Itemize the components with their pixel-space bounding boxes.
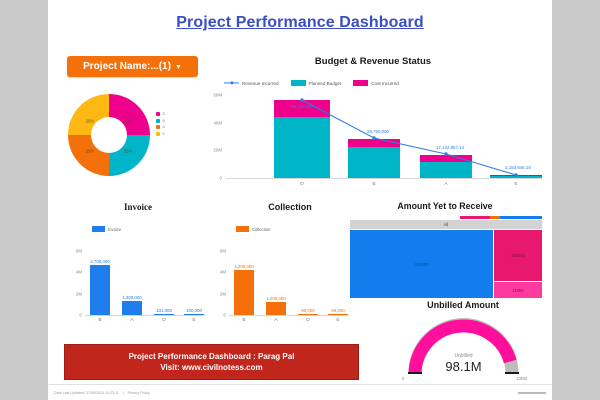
- page-title: Project Performance Dashboard: [48, 14, 552, 32]
- value-label-invoice-b: 4,700,000: [90, 259, 110, 264]
- line-point-a: [444, 152, 447, 155]
- donut-slice-label-b: 25%: [124, 149, 132, 154]
- treemap-cell-11000[interactable]: 11000: [494, 282, 542, 298]
- gauge-value: 98.1M: [406, 359, 521, 374]
- legend-swatch-d: [156, 112, 160, 116]
- x-tick-e: E: [514, 182, 517, 187]
- y-tick-6m: 6M: [68, 249, 82, 254]
- x-tick-b: B: [98, 318, 101, 323]
- line-point-e: [514, 173, 517, 176]
- value-label-invoice-d: 101,000: [156, 308, 172, 313]
- treemap-header: All: [350, 220, 542, 229]
- budget-revenue-plot: 0 20M 40M 60M: [198, 50, 548, 195]
- value-label-revenue-e: 2,153,846.15: [505, 165, 531, 170]
- x-tick-d: D: [306, 318, 309, 323]
- x-tick-a: A: [274, 318, 277, 323]
- treemap-cell-160000[interactable]: 160000: [494, 230, 542, 281]
- treemap-cell-300000[interactable]: 300000: [350, 230, 493, 298]
- line-point-d: [300, 98, 303, 101]
- x-tick-d: D: [162, 318, 165, 323]
- y-tick-4m: 4M: [68, 270, 82, 275]
- project-share-donut-chart[interactable]: 25% 25% 25% 25% D B A: [62, 92, 192, 180]
- footer-bar: Data Last Updated: 27/05/2024 10:33:11 |…: [48, 384, 552, 400]
- footer-separator: |: [123, 391, 124, 395]
- budget-revenue-status-chart[interactable]: Budget & Revenue Status Revenue Incurred…: [198, 50, 548, 195]
- unbilled-amount-title: Unbilled Amount: [378, 300, 548, 310]
- donut-slice-label-a: 25%: [86, 149, 94, 154]
- amount-yet-to-receive-title: Amount Yet to Receive: [340, 201, 550, 211]
- value-label-invoice-a: 1,300,000: [122, 295, 142, 300]
- value-label-revenue-d: 56,350,000: [291, 104, 313, 109]
- legend-swatch-a: [156, 125, 160, 129]
- value-label-collection-b: 4,200,000: [234, 264, 254, 269]
- x-axis-line: [229, 315, 349, 316]
- y-tick-2m: 2M: [212, 291, 226, 296]
- screenshot-root: Project Performance Dashboard Project Na…: [0, 0, 600, 400]
- credits-banner: Project Performance Dashboard : Parag Pa…: [64, 344, 359, 380]
- treemap-body: All 300000 160000 11000: [350, 220, 542, 298]
- credits-line-1: Project Performance Dashboard : Parag Pa…: [129, 352, 295, 361]
- chevron-down-icon: ▼: [175, 64, 182, 71]
- y-tick-6m: 6M: [212, 249, 226, 254]
- bar-collection-d[interactable]: [298, 314, 318, 315]
- value-label-invoice-e: 100,000: [186, 308, 202, 313]
- project-name-slicer[interactable]: Project Name:...(1) ▼: [67, 56, 198, 77]
- y-tick-4m: 4M: [212, 270, 226, 275]
- donut-slice-label-d: 25%: [124, 119, 132, 124]
- x-tick-e: E: [192, 318, 195, 323]
- dashboard-canvas: Project Performance Dashboard Project Na…: [48, 0, 552, 400]
- project-name-slicer-label: Project Name:...(1): [83, 61, 171, 72]
- credits-line-2: Visit: www.civilnotess.com: [160, 363, 262, 372]
- x-tick-d: D: [300, 182, 303, 187]
- legend-label-e: E: [163, 132, 165, 136]
- footer-updated-text: Data Last Updated: 27/05/2024 10:33:11: [54, 391, 119, 395]
- x-tick-b: B: [372, 182, 375, 187]
- y-tick-2m: 2M: [68, 291, 82, 296]
- legend-item[interactable]: D: [156, 112, 165, 116]
- x-axis-line: [85, 315, 205, 316]
- legend-label-b: B: [163, 119, 165, 123]
- bar-collection-e[interactable]: [328, 314, 348, 315]
- y-tick-0: 0: [68, 313, 82, 318]
- bar-invoice-b[interactable]: [90, 265, 110, 315]
- amount-yet-to-receive-chart[interactable]: Amount Yet to Receive All 300000 160000 …: [340, 198, 550, 310]
- x-tick-e: E: [336, 318, 339, 323]
- donut-legend: D B A E: [156, 112, 165, 136]
- donut-slice-label-e: 25%: [86, 119, 94, 124]
- legend-swatch-e: [156, 132, 160, 136]
- gauge-min-label: 0: [402, 376, 404, 381]
- invoice-chart[interactable]: Invoice Invoice 0 2M 4M 6M 4,700,000 1,3…: [58, 198, 218, 338]
- legend-item[interactable]: B: [156, 119, 165, 123]
- revenue-incurred-line: [198, 50, 548, 195]
- bar-collection-b[interactable]: [234, 270, 254, 315]
- donut-hole: [91, 117, 127, 153]
- legend-label-a: A: [163, 125, 165, 129]
- x-tick-a: A: [130, 318, 133, 323]
- legend-item[interactable]: E: [156, 132, 165, 136]
- invoice-plot: 0 2M 4M 6M 4,700,000 1,300,000 101,000 1…: [58, 198, 218, 338]
- footer-privacy-link[interactable]: Privacy Policy: [128, 391, 150, 395]
- legend-item[interactable]: A: [156, 125, 165, 129]
- x-tick-a: A: [444, 182, 447, 187]
- value-label-collection-d: 90,000: [301, 308, 314, 313]
- bar-invoice-d[interactable]: [154, 314, 174, 315]
- value-label-revenue-a: 17,142,857.14: [436, 145, 464, 150]
- bar-invoice-e[interactable]: [184, 314, 204, 315]
- value-label-revenue-b: 28,750,000: [367, 129, 389, 134]
- donut-ring: 25% 25% 25% 25%: [68, 94, 150, 176]
- line-point-b: [372, 136, 375, 139]
- unbilled-amount-gauge[interactable]: Unbilled Amount Unbilled 98.1M 0 100M: [378, 300, 548, 378]
- gauge-graphic: Unbilled 98.1M 0 100M: [406, 316, 521, 378]
- bar-collection-a[interactable]: [266, 302, 286, 315]
- treemap-strip-orange: [490, 216, 500, 219]
- gauge-max-label: 100M: [516, 376, 527, 381]
- footer-scroll-handle[interactable]: [518, 392, 546, 394]
- legend-swatch-b: [156, 119, 160, 123]
- y-tick-0: 0: [212, 313, 226, 318]
- value-label-collection-a: 1,200,000: [266, 296, 286, 301]
- treemap-strip-pink: [460, 216, 490, 219]
- legend-label-d: D: [163, 112, 166, 116]
- treemap-strip-blue: [500, 216, 542, 219]
- bar-invoice-a[interactable]: [122, 301, 142, 315]
- x-tick-b: B: [242, 318, 245, 323]
